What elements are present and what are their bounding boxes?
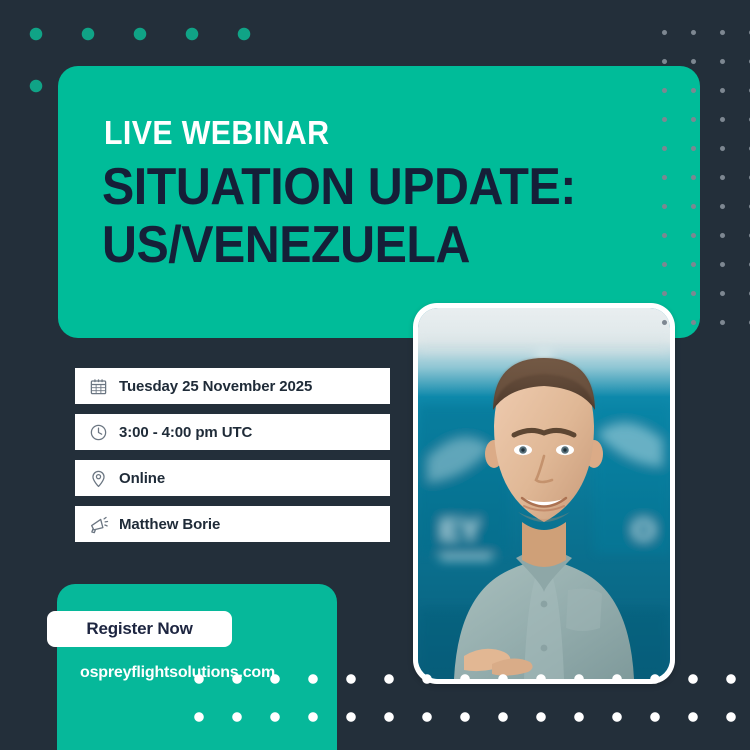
detail-location-text: Online: [119, 470, 165, 487]
detail-row-date: Tuesday 25 November 2025: [75, 368, 390, 404]
webinar-promo-poster: LIVE WEBINAR SITUATION UPDATE: US/VENEZU…: [0, 0, 750, 750]
detail-row-speaker: Matthew Borie: [75, 506, 390, 542]
detail-time-text: 3:00 - 4:00 pm UTC: [119, 424, 252, 441]
detail-row-time: 3:00 - 4:00 pm UTC: [75, 414, 390, 450]
detail-speaker-text: Matthew Borie: [119, 516, 220, 533]
speaker-photo-frame: EY O: [413, 303, 675, 684]
speaker-photo: EY O: [418, 308, 670, 679]
event-details-list: Tuesday 25 November 2025 3:00 - 4:00 pm …: [75, 368, 390, 542]
calendar-icon: [87, 375, 109, 397]
website-url-label: ospreyflightsolutions.com: [80, 664, 275, 682]
register-now-button[interactable]: Register Now: [47, 611, 232, 647]
page-title: SITUATION UPDATE: US/VENEZUELA: [102, 158, 640, 274]
detail-date-text: Tuesday 25 November 2025: [119, 378, 312, 395]
location-pin-icon: [87, 467, 109, 489]
clock-icon: [87, 421, 109, 443]
eyebrow-label: LIVE WEBINAR: [104, 114, 329, 152]
register-now-label: Register Now: [86, 619, 192, 639]
megaphone-icon: [87, 513, 109, 535]
svg-text:EY: EY: [440, 514, 480, 547]
detail-row-location: Online: [75, 460, 390, 496]
headline-panel: LIVE WEBINAR SITUATION UPDATE: US/VENEZU…: [58, 66, 700, 338]
svg-text:O: O: [632, 514, 655, 547]
